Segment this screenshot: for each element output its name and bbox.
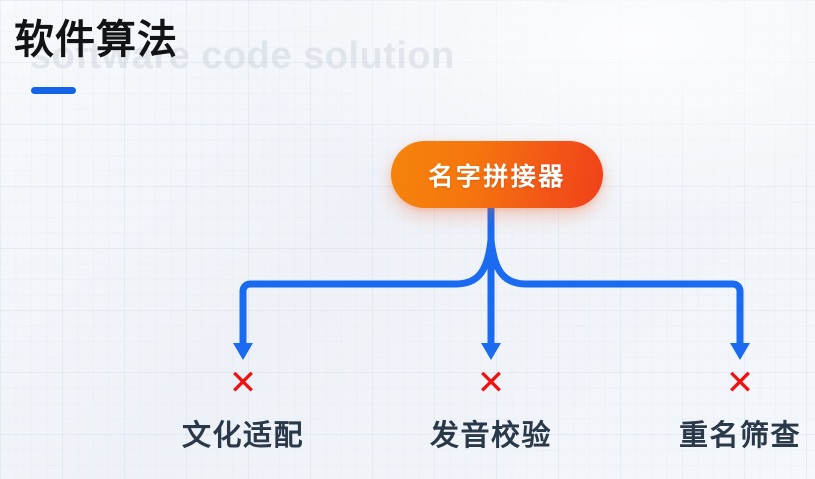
arrowhead-2 [481,343,501,360]
branch-x-mark-2: ✕ [468,366,514,400]
trunk-merge-left [456,240,491,284]
branch-line-3 [526,284,740,345]
branch-line-1 [243,284,456,345]
branch-x-mark-1: ✕ [220,366,266,400]
page-title: 软件算法 [14,14,178,66]
branch-label-2: 发音校验 [376,417,606,455]
branch-x-mark-3: ✕ [717,366,763,400]
root-node-label: 名字拼接器 [428,157,566,193]
slide-canvas: software code solution 软件算法 名字拼接器 [0,0,815,479]
branch-label-3: 重名筛查 [625,417,815,455]
branch-label-1: 文化适配 [128,417,358,455]
trunk-merge-right [491,240,526,284]
arrowhead-3 [730,343,750,360]
arrowheads [233,343,750,360]
arrowhead-1 [233,343,253,360]
title-accent-rule [31,87,76,94]
root-node[interactable]: 名字拼接器 [391,141,603,208]
slide-header: software code solution 软件算法 [14,8,514,103]
